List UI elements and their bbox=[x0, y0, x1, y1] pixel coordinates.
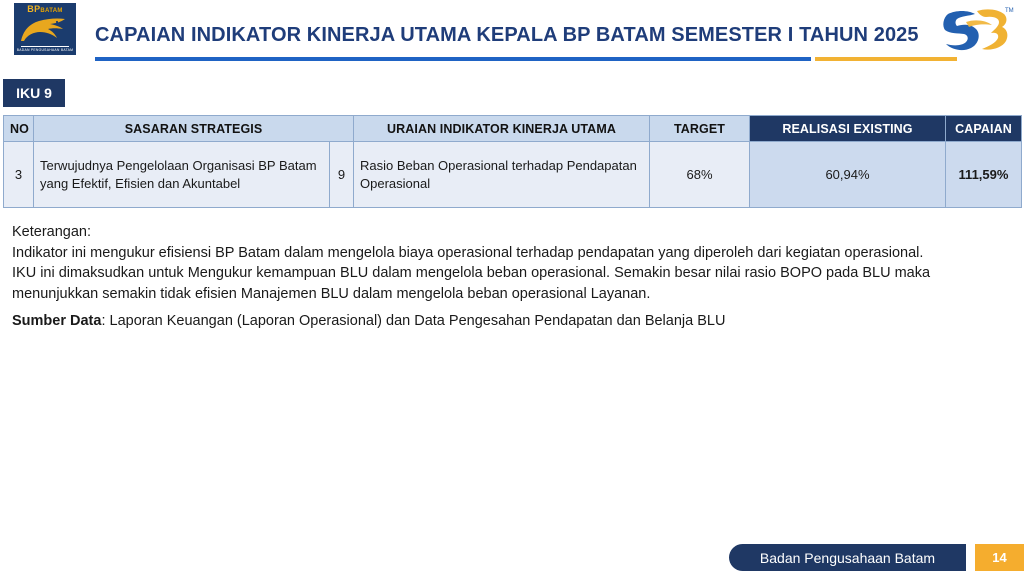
slide-canvas: BPBATAM BADAN PENGUSAHAAN BATAM CAPAIAN … bbox=[0, 0, 1024, 575]
logo-divider bbox=[21, 46, 69, 47]
column-header-sasaran-strategis: SASARAN STRATEGIS bbox=[34, 116, 354, 142]
bp-batam-logo-wordmark: BPBATAM bbox=[27, 5, 62, 14]
keterangan-block: Keterangan: Indikator ini mengukur efisi… bbox=[12, 222, 1012, 304]
title-rule-gold bbox=[815, 57, 957, 61]
sumber-data-block: Sumber Data: Laporan Keuangan (Laporan O… bbox=[12, 313, 1012, 329]
bp-batam-logo: BPBATAM BADAN PENGUSAHAAN BATAM bbox=[14, 3, 76, 55]
cell-target: 68% bbox=[650, 142, 750, 208]
cell-capaian: 111,59% bbox=[946, 142, 1022, 208]
column-header-capaian: CAPAIAN bbox=[946, 116, 1022, 142]
anniversary-53-tm: TM bbox=[1005, 8, 1014, 14]
cell-no: 3 bbox=[4, 142, 34, 208]
anniversary-53-logo: TM bbox=[936, 0, 1014, 56]
column-header-target: TARGET bbox=[650, 116, 750, 142]
cell-sasaran-strategis: Terwujudnya Pengelolaan Organisasi BP Ba… bbox=[34, 142, 330, 208]
column-header-no: NO bbox=[4, 116, 34, 142]
bp-batam-logo-subtitle: BADAN PENGUSAHAAN BATAM bbox=[17, 49, 74, 52]
title-rule-blue bbox=[95, 57, 811, 61]
iku-table: NO SASARAN STRATEGIS URAIAN INDIKATOR KI… bbox=[3, 115, 1022, 208]
komodo-dragon-icon bbox=[17, 14, 73, 44]
page-title: CAPAIAN INDIKATOR KINERJA UTAMA KEPALA B… bbox=[95, 24, 915, 47]
table-header-row: NO SASARAN STRATEGIS URAIAN INDIKATOR KI… bbox=[4, 116, 1022, 142]
table-row: 3 Terwujudnya Pengelolaan Organisasi BP … bbox=[4, 142, 1022, 208]
keterangan-line-2: IKU ini dimaksudkan untuk Mengukur kemam… bbox=[12, 263, 1012, 284]
sumber-data-label: Sumber Data bbox=[12, 313, 101, 329]
footer-organization-bar: Badan Pengusahaan Batam bbox=[729, 544, 966, 571]
column-header-realisasi-existing: REALISASI EXISTING bbox=[750, 116, 946, 142]
footer-page-number: 14 bbox=[975, 544, 1024, 571]
iku-badge: IKU 9 bbox=[3, 79, 65, 107]
column-header-uraian-indikator: URAIAN INDIKATOR KINERJA UTAMA bbox=[354, 116, 650, 142]
iku-table-container: NO SASARAN STRATEGIS URAIAN INDIKATOR KI… bbox=[3, 115, 1021, 208]
keterangan-line-1: Indikator ini mengukur efisiensi BP Bata… bbox=[12, 243, 1012, 264]
sumber-data-value: Laporan Keuangan (Laporan Operasional) d… bbox=[110, 313, 726, 329]
keterangan-line-3: menunjukkan semakin tidak efisien Manaje… bbox=[12, 284, 1012, 305]
bp-batam-logo-bp-text: BP bbox=[27, 4, 40, 14]
cell-uraian-indikator: Rasio Beban Operasional terhadap Pendapa… bbox=[354, 142, 650, 208]
sumber-data-separator: : bbox=[101, 313, 109, 329]
keterangan-label: Keterangan: bbox=[12, 222, 1012, 243]
cell-indikator-index: 9 bbox=[330, 142, 354, 208]
cell-realisasi-existing: 60,94% bbox=[750, 142, 946, 208]
